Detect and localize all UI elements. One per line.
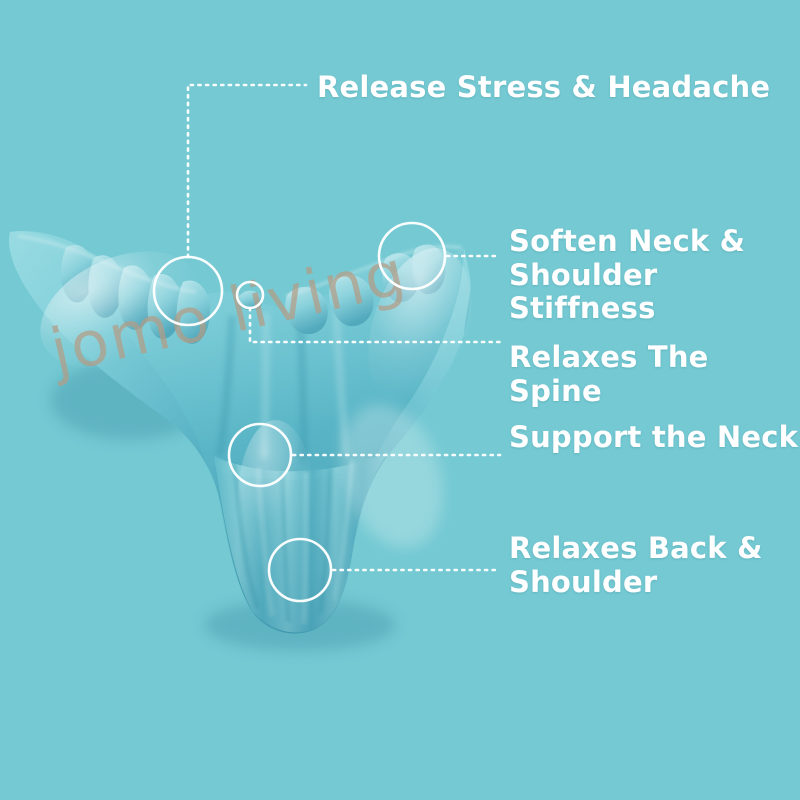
callout-label-relaxes-back: Relaxes Back & Shoulder: [509, 532, 763, 599]
infographic-canvas: jomo living Release Stress & Headache So…: [0, 0, 800, 800]
marker-relaxes-spine[interactable]: [237, 282, 263, 308]
marker-relaxes-back[interactable]: [269, 539, 331, 601]
marker-release-stress[interactable]: [154, 257, 222, 325]
callout-label-support-neck: Support the Neck: [509, 421, 798, 455]
callout-label-relaxes-spine: Relaxes The Spine: [509, 341, 800, 408]
callout-label-release-stress: Release Stress & Headache: [317, 71, 770, 105]
marker-soften-neck[interactable]: [379, 223, 445, 289]
marker-support-neck[interactable]: [229, 424, 291, 486]
callout-label-soften-neck: Soften Neck & Shoulder Stiffness: [509, 225, 800, 326]
leader-release-stress: [188, 85, 306, 257]
leader-relaxes-spine: [250, 308, 500, 342]
